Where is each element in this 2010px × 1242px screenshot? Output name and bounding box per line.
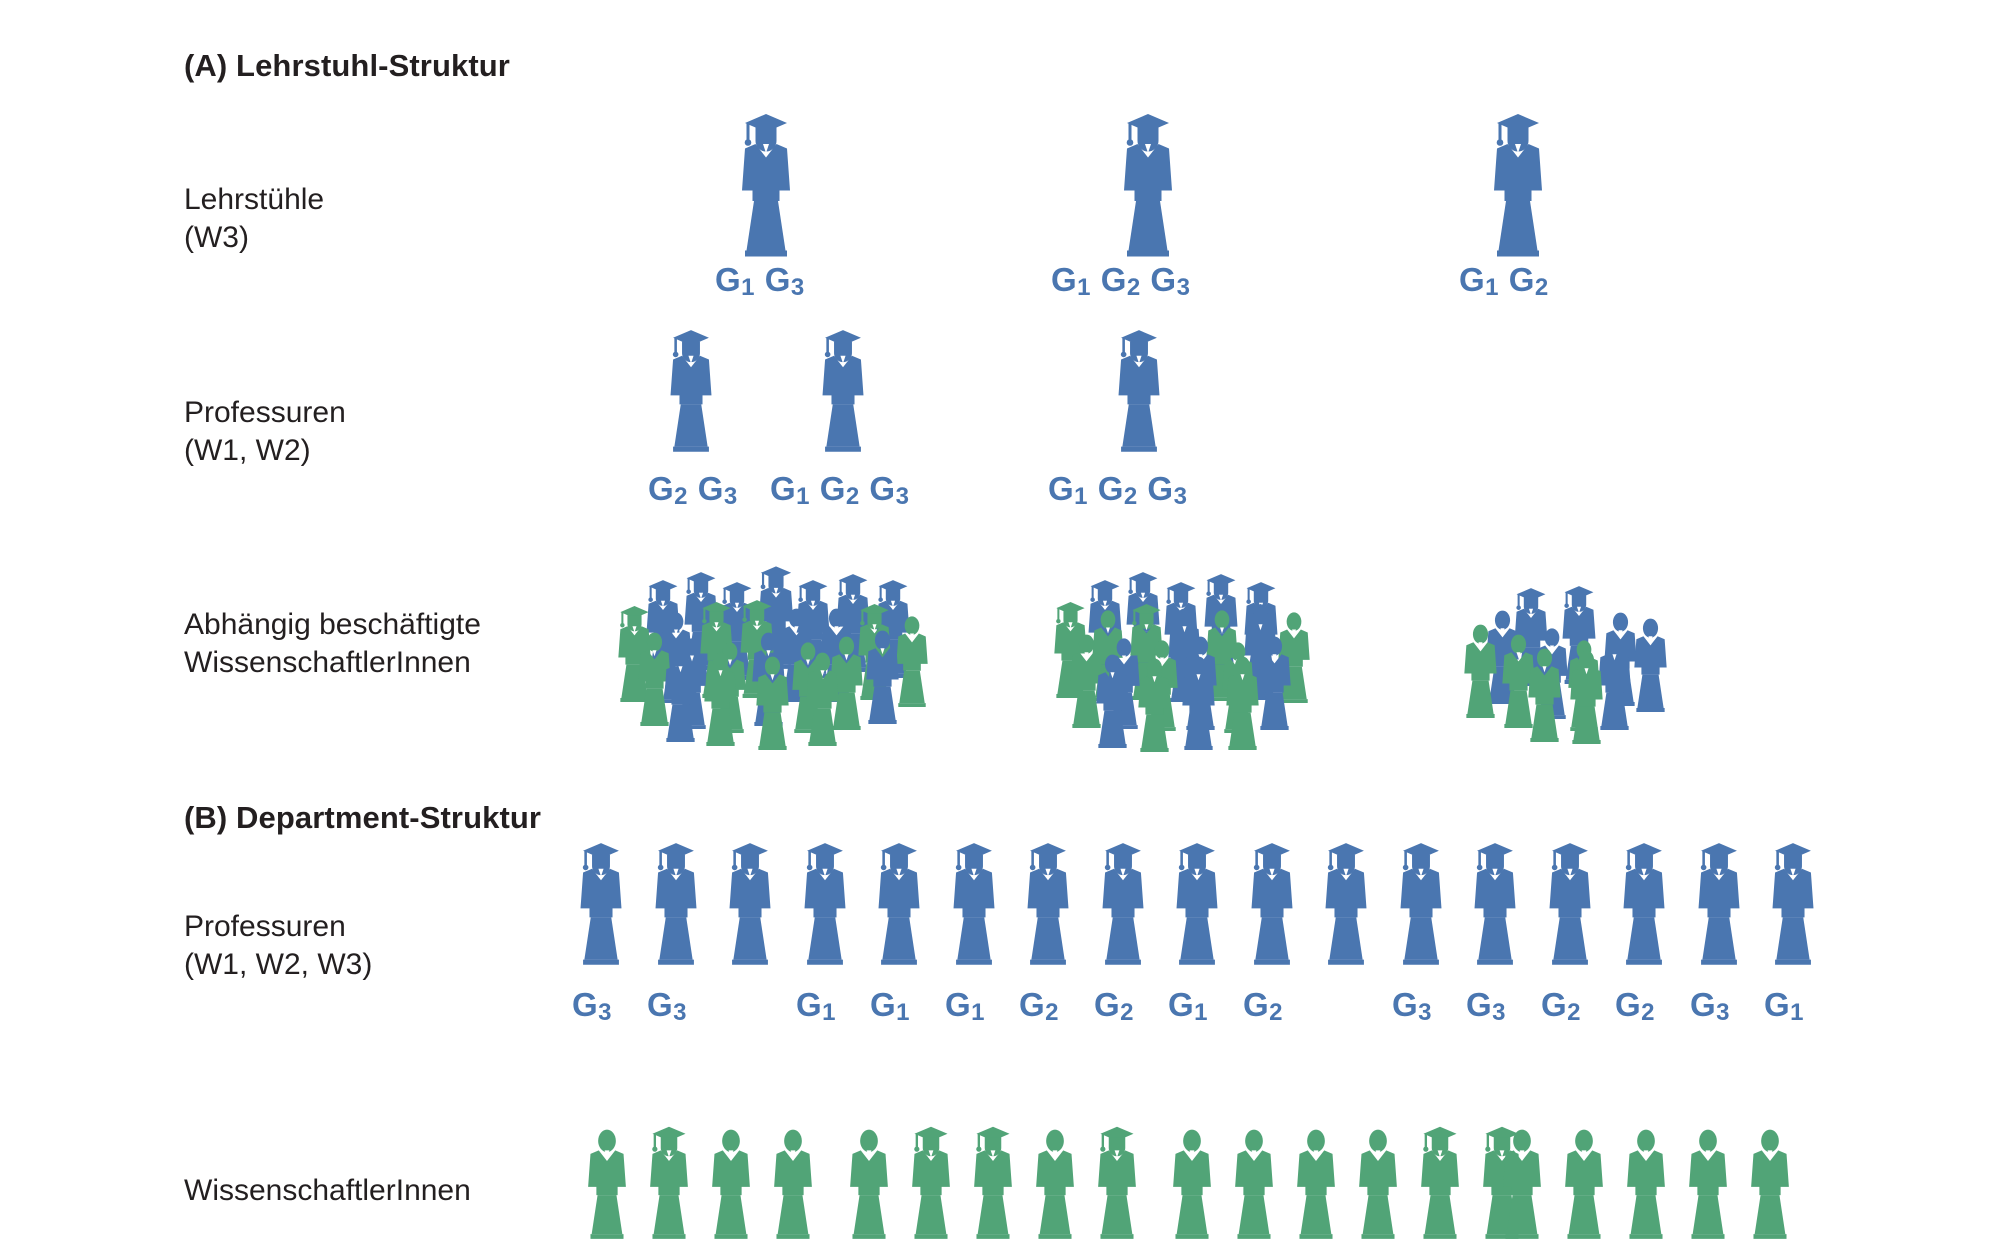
researcher-6 xyxy=(902,1122,960,1240)
department-professor-5 xyxy=(868,838,930,966)
department-professor-15 xyxy=(1613,838,1675,966)
crowd-cluster-1 xyxy=(600,550,940,720)
infographic-canvas: (A) Lehrstuhl-Struktur Lehrstühle (W3) P… xyxy=(0,0,2010,1242)
crowd-1-person-25 xyxy=(748,650,797,751)
crowd-1-person-24 xyxy=(696,646,745,747)
department-professor-3 xyxy=(719,838,781,966)
crowd-1-person-26 xyxy=(798,646,847,747)
researcher-8 xyxy=(1026,1122,1084,1240)
crowd-2-person-22 xyxy=(1218,650,1267,751)
department-professor-2 xyxy=(645,838,707,966)
researcher-3 xyxy=(702,1122,760,1240)
department-professor-16 xyxy=(1688,838,1750,966)
department-professor-6 xyxy=(943,838,1005,966)
crowd-2-person-20 xyxy=(1130,652,1179,753)
researcher-7 xyxy=(964,1122,1022,1240)
department-professor-13 xyxy=(1464,838,1526,966)
department-professor-7 xyxy=(1017,838,1079,966)
researcher-13 xyxy=(1349,1122,1407,1240)
researcher-4 xyxy=(764,1122,822,1240)
department-professor-14 xyxy=(1539,838,1601,966)
department-professor-17 xyxy=(1762,838,1824,966)
researcher-18 xyxy=(1617,1122,1675,1240)
researcher-10 xyxy=(1163,1122,1221,1240)
researcher-5 xyxy=(840,1122,898,1240)
crowd-3-person-12 xyxy=(1562,644,1611,745)
department-professor-10 xyxy=(1241,838,1303,966)
researcher-2 xyxy=(640,1122,698,1240)
department-professor-9 xyxy=(1166,838,1228,966)
crowd-2-person-21 xyxy=(1174,650,1223,751)
department-professor-1 xyxy=(570,838,632,966)
department-professor-4 xyxy=(794,838,856,966)
researcher-20 xyxy=(1741,1122,1799,1240)
researcher-9 xyxy=(1088,1122,1146,1240)
researcher-17 xyxy=(1555,1122,1613,1240)
researcher-19 xyxy=(1679,1122,1737,1240)
researcher-14 xyxy=(1411,1122,1469,1240)
department-professor-12 xyxy=(1390,838,1452,966)
department-researcher-row xyxy=(0,0,2010,1242)
department-professor-8 xyxy=(1092,838,1154,966)
researcher-16 xyxy=(1493,1122,1551,1240)
researcher-12 xyxy=(1287,1122,1345,1240)
researcher-11 xyxy=(1225,1122,1283,1240)
department-professor-11 xyxy=(1315,838,1377,966)
researcher-1 xyxy=(578,1122,636,1240)
